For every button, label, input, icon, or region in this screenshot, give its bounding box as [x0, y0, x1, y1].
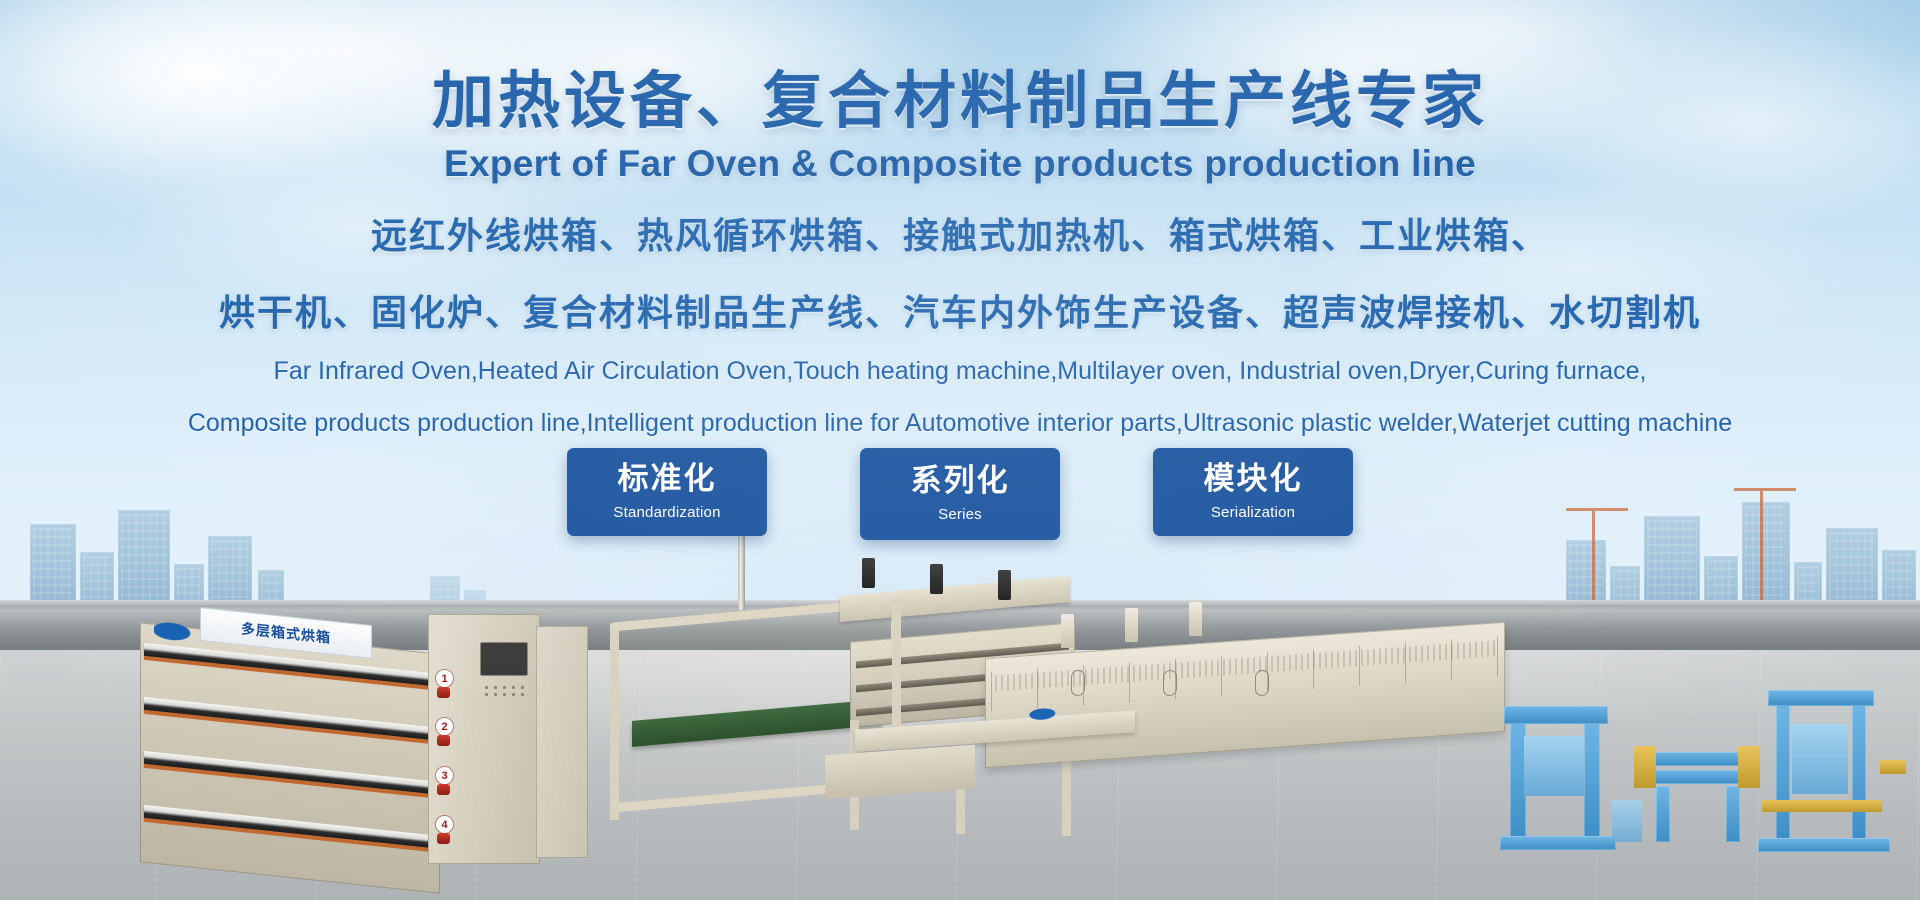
control-screen: [480, 642, 528, 676]
subtitle-english-line-1: Far Infrared Oven,Heated Air Circulation…: [0, 353, 1920, 391]
subtitle-chinese-line-1: 远红外线烘箱、热风循环烘箱、接触式加热机、箱式烘箱、工业烘箱、: [0, 211, 1920, 262]
badge-chinese-label: 标准化: [618, 464, 717, 495]
feature-badges: 标准化 Standardization 系列化 Series 模块化 Seria…: [0, 448, 1920, 540]
badge-chinese-label: 模块化: [1204, 464, 1303, 495]
oven-side-cabinet: [536, 626, 588, 858]
headline-english: Expert of Far Oven & Composite products …: [0, 143, 1920, 185]
knob-dial-icon: [437, 735, 450, 746]
knob-dial-icon: [437, 833, 450, 844]
badge-chinese-label: 系列化: [911, 466, 1010, 497]
oven-knob: 3: [436, 769, 466, 795]
badge-series[interactable]: 系列化 Series: [860, 448, 1060, 540]
press-cylinder: [862, 558, 875, 588]
badge-serialization[interactable]: 模块化 Serialization: [1153, 448, 1353, 536]
knob-number: 1: [436, 670, 453, 687]
badge-english-label: Serialization: [1211, 504, 1295, 521]
banner-stage: 1 2 3 4 多层箱式烘箱: [0, 0, 1920, 900]
oven-nameplate-text: 多层箱式烘箱: [241, 618, 331, 647]
multilayer-oven: 1 2 3 4 多层箱式烘箱: [140, 620, 570, 900]
oven-door-handle-icon: [1163, 670, 1177, 697]
vent-grid-icon: [482, 684, 526, 698]
headline-chinese: 加热设备、复合材料制品生产线专家: [0, 68, 1920, 135]
brand-logo-icon: [154, 620, 198, 647]
headline-block: 加热设备、复合材料制品生产线专家 Expert of Far Oven & Co…: [0, 0, 1920, 442]
knob-number: 2: [436, 718, 453, 735]
oven-stack: [1125, 608, 1138, 642]
knob-number: 4: [436, 816, 453, 833]
oven-knob: 1: [436, 672, 466, 698]
oven-stack: [1061, 614, 1074, 648]
oven-knob: 4: [436, 818, 466, 844]
oven-knob: 2: [436, 720, 466, 746]
badge-english-label: Standardization: [613, 504, 720, 521]
oven-stack: [1189, 602, 1202, 636]
robotic-production-line: [1500, 650, 1920, 900]
badge-standardization[interactable]: 标准化 Standardization: [567, 448, 767, 536]
brand-logo-icon: [1027, 705, 1061, 723]
knob-number: 3: [436, 767, 453, 784]
badge-english-label: Series: [938, 506, 982, 523]
press-cylinder: [998, 570, 1011, 600]
oven-door-handle-icon: [1255, 670, 1269, 697]
press-cylinder: [930, 564, 943, 594]
oven-door-handle-icon: [1071, 670, 1085, 697]
subtitle-chinese-line-2: 烘干机、固化炉、复合材料制品生产线、汽车内外饰生产设备、超声波焊接机、水切割机: [0, 288, 1920, 339]
knob-dial-icon: [437, 687, 450, 698]
knob-dial-icon: [437, 784, 450, 795]
subtitle-english-line-2: Composite products production line,Intel…: [0, 405, 1920, 443]
